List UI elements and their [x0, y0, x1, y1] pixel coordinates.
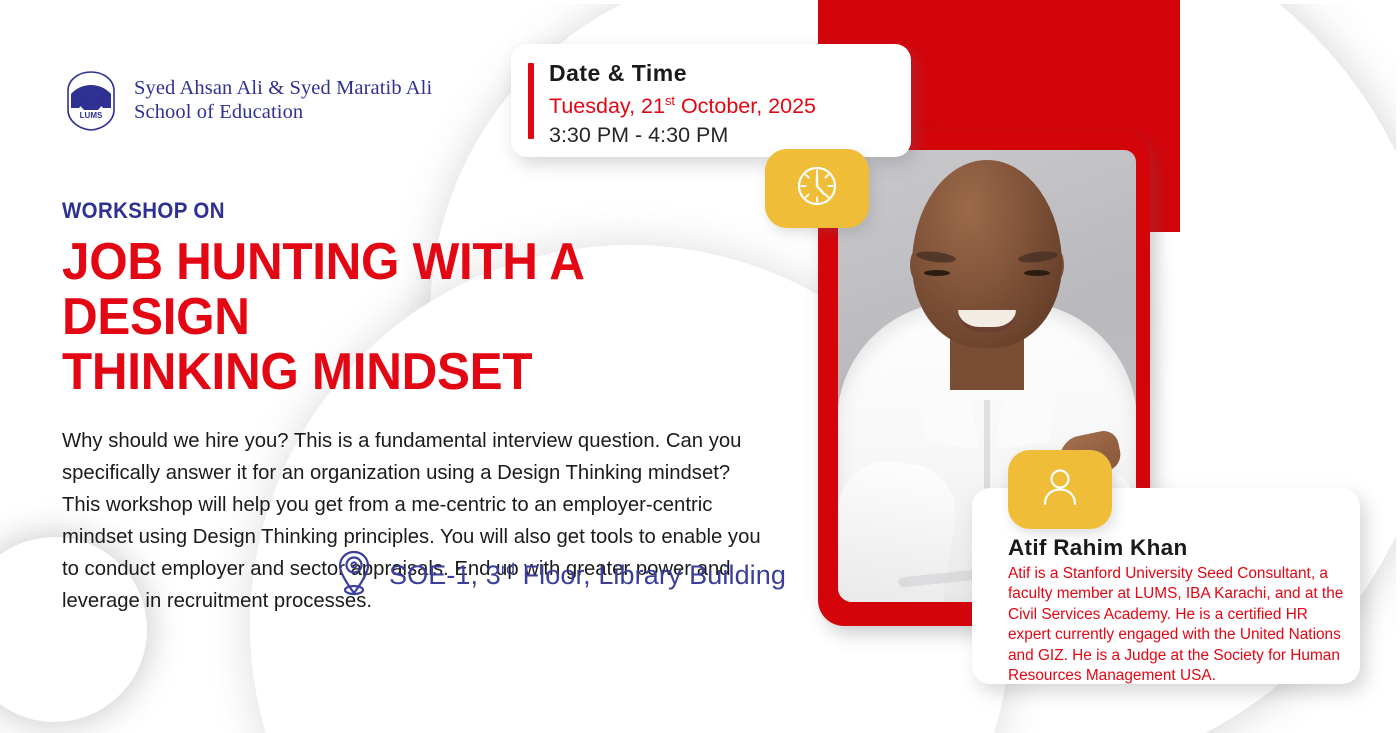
photo-eyebrow-left	[1018, 250, 1059, 265]
institution-line-2: School of Education	[134, 101, 303, 123]
venue-ordinal: rd	[501, 561, 515, 578]
date-card-body: Date & Time Tuesday, 21st October, 2025 …	[549, 60, 816, 149]
event-date: Tuesday, 21st October, 2025	[549, 92, 816, 121]
clock-icon	[792, 161, 842, 216]
speaker-badge	[1008, 450, 1112, 529]
edge-mask-right	[1396, 0, 1400, 733]
date-time-card: Date & Time Tuesday, 21st October, 2025 …	[511, 44, 911, 157]
lums-crest-icon: LUMS	[62, 70, 120, 132]
speaker-name: Atif Rahim Khan	[1008, 535, 1344, 561]
event-date-ordinal: st	[665, 93, 675, 108]
brand-logo: LUMS Syed Ahsan Ali & Syed Maratib Ali S…	[62, 70, 432, 132]
institution-name: Syed Ahsan Ali & Syed Maratib Ali School…	[134, 77, 432, 125]
photo-eyebrow-right	[916, 250, 957, 265]
institution-line-1: Syed Ahsan Ali & Syed Maratib Ali	[134, 77, 432, 99]
location-pin-icon	[335, 549, 373, 602]
venue-row: SOE-1, 3rd Floor, Library Building	[335, 549, 786, 602]
speaker-card-body: Atif Rahim Khan Atif is a Stanford Unive…	[1008, 535, 1344, 687]
person-icon	[1036, 463, 1084, 516]
workshop-kicker: WORKSHOP ON	[62, 198, 722, 224]
photo-head	[912, 160, 1062, 348]
event-time: 3:30 PM - 4:30 PM	[549, 121, 816, 150]
venue-text: SOE-1, 3rd Floor, Library Building	[389, 560, 786, 591]
photo-smile	[958, 310, 1016, 332]
venue-prefix: SOE-1, 3	[389, 560, 501, 590]
edge-mask-top	[0, 0, 1400, 4]
photo-eye-right	[924, 270, 950, 276]
event-date-prefix: Tuesday, 21	[549, 94, 665, 118]
svg-text:LUMS: LUMS	[80, 111, 103, 120]
date-card-accent-bar	[528, 63, 534, 139]
event-date-suffix: October, 2025	[675, 94, 816, 118]
date-time-heading: Date & Time	[549, 60, 816, 87]
workshop-title: JOB HUNTING WITH A DESIGN THINKING MINDS…	[62, 235, 737, 400]
speaker-bio: Atif is a Stanford University Seed Consu…	[1008, 564, 1344, 687]
clock-badge	[765, 149, 869, 228]
venue-suffix: Floor, Library Building	[515, 560, 786, 590]
photo-eye-left	[1024, 270, 1050, 276]
